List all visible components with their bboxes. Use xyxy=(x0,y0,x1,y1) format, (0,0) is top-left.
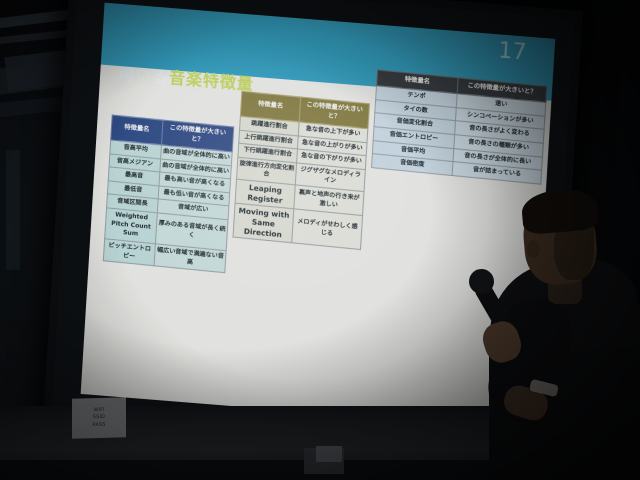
wifi-sign-line: Design xyxy=(541,458,559,466)
wifi-sign-left: WiFi SSID PASS xyxy=(72,397,126,439)
table-pitch-features: 特徴量名 この特徴量が大きいと？ 音高平均曲の音域が全体的に高い 音高メジアン曲… xyxy=(103,114,234,273)
feature-name: ピッチエントロピー xyxy=(103,239,155,266)
table-rhythm-features: 特徴量名 この特徴量が大きいと？ テンポ速い タイの数シンコペーションが多い 音… xyxy=(371,69,547,184)
floor-object-top xyxy=(316,446,342,462)
photo-scene: 17 用いる音楽特徴量 特徴量名 この特徴量が大きいと？ 音高平均曲の音域が全体… xyxy=(0,0,640,480)
feature-name: Weighted Pitch Count Sum xyxy=(105,208,158,244)
table-melodic-motion-features: 特徴量名 この特徴量が大きいと？ 跳躍進行割合急な音の上下が多い 上行跳躍進行割… xyxy=(232,91,369,251)
presentation-slide: 17 用いる音楽特徴量 特徴量名 この特徴量が大きいと？ 音高平均曲の音域が全体… xyxy=(81,3,556,431)
projection-screen: 17 用いる音楽特徴量 特徴量名 この特徴量が大きいと？ 音高平均曲の音域が全体… xyxy=(52,0,575,452)
slide-title-plain: 用いる xyxy=(118,64,170,87)
wall-light-strip xyxy=(6,150,20,270)
slide-number: 17 xyxy=(498,38,527,65)
wifi-sign-line: PASS xyxy=(92,422,105,430)
feature-meaning: メロディがせわしく感じる xyxy=(292,209,363,250)
wifi-sign-right: WiFi Design xyxy=(524,435,576,480)
feature-name: Moving with Same Direction xyxy=(233,203,294,243)
